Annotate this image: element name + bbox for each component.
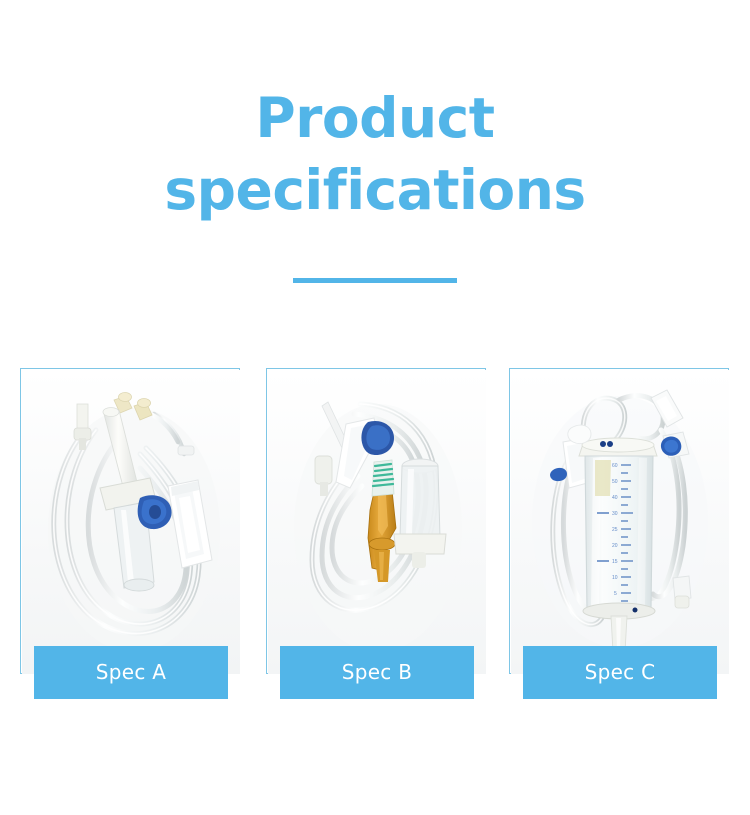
spec-card-b-label[interactable]: Spec B — [280, 646, 474, 699]
spec-card-a[interactable]: Spec A — [20, 368, 240, 674]
svg-text:15: 15 — [612, 559, 618, 565]
svg-text:40: 40 — [612, 495, 618, 501]
spec-card-b[interactable]: Spec B — [266, 368, 486, 674]
drip-chamber — [394, 459, 446, 568]
product-photo-c: 60 50 40 30 25 20 15 10 5 — [511, 370, 729, 674]
needle-hub-green — [372, 460, 394, 496]
svg-text:5: 5 — [614, 591, 617, 597]
luer-lock-connector — [673, 576, 691, 608]
iv-burette-set-c-icon: 60 50 40 30 25 20 15 10 5 — [511, 370, 729, 674]
spec-card-a-label[interactable]: Spec A — [34, 646, 228, 699]
svg-text:50: 50 — [612, 479, 618, 485]
spec-card-c-label[interactable]: Spec C — [523, 646, 717, 699]
product-photo-a — [22, 370, 240, 674]
page-title: Product specifications — [0, 82, 750, 226]
svg-text:20: 20 — [612, 543, 618, 549]
page-header: Product specifications — [0, 0, 750, 330]
iv-infusion-set-a-icon — [22, 370, 240, 674]
iv-infusion-set-b-icon — [268, 370, 486, 674]
spec-card-row: Spec A — [0, 368, 750, 708]
spec-card-c[interactable]: 60 50 40 30 25 20 15 10 5 — [509, 368, 729, 674]
svg-text:10: 10 — [612, 575, 618, 581]
product-photo-b — [268, 370, 486, 674]
tubing-knot — [568, 425, 591, 443]
svg-text:60: 60 — [612, 463, 618, 469]
svg-text:30: 30 — [612, 511, 618, 517]
inline-clamp — [178, 446, 194, 455]
title-divider — [293, 278, 457, 283]
svg-text:25: 25 — [612, 527, 618, 533]
